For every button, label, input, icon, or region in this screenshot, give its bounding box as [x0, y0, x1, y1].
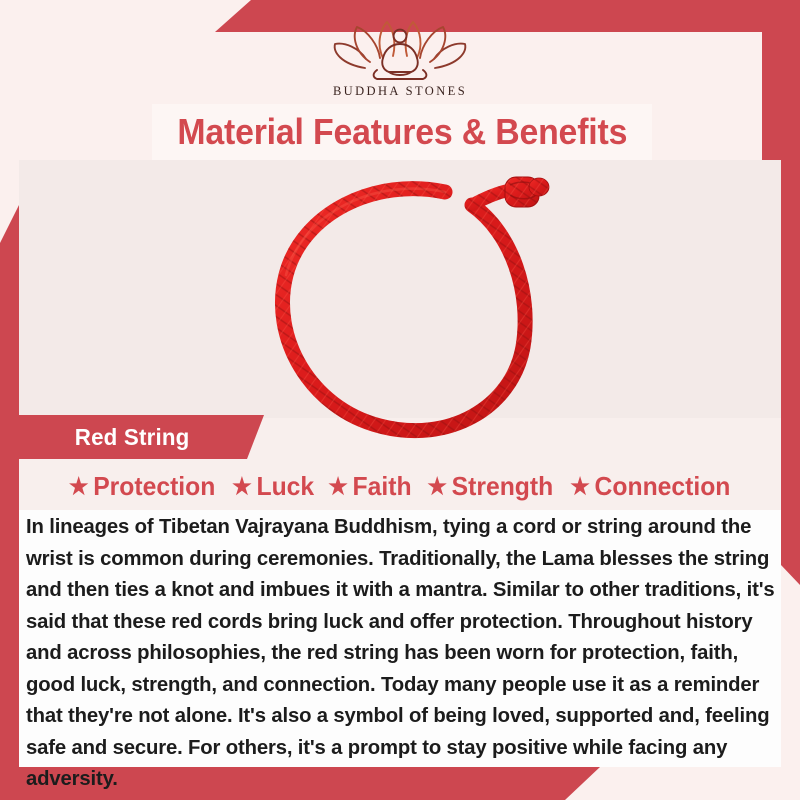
red-string-bracelet-photo [240, 165, 580, 455]
star-icon: ★ [427, 475, 447, 498]
feature-label: Faith [352, 471, 411, 502]
feature-item-connection: ★ Connection [570, 471, 730, 502]
feature-label: Luck [256, 471, 314, 502]
feature-label: Connection [595, 471, 731, 502]
feature-label: Strength [451, 471, 553, 502]
feature-list: ★ Protection ★ Luck ★ Faith ★ Strength ★… [19, 466, 781, 506]
feature-item-strength: ★ Strength [427, 471, 553, 502]
brand-name: BUDDHA STONES [333, 84, 467, 99]
star-icon: ★ [328, 475, 348, 498]
material-label-banner: Red String [19, 415, 264, 459]
star-icon: ★ [232, 475, 252, 498]
infographic-poster: BUDDHA STONES Material Features & Benefi… [0, 0, 800, 800]
title-banner: Material Features & Benefits [152, 104, 652, 160]
star-icon: ★ [69, 475, 89, 498]
description-text: In lineages of Tibetan Vajrayana Buddhis… [26, 512, 778, 796]
bracelet-loop [282, 189, 525, 431]
feature-item-protection: ★ Protection [69, 471, 215, 502]
feature-item-faith: ★ Faith [328, 471, 411, 502]
feature-label: Protection [93, 471, 215, 502]
lotus-meditation-icon [325, 14, 475, 82]
material-label: Red String [75, 424, 190, 451]
brand-logo: BUDDHA STONES [0, 14, 800, 99]
page-title: Material Features & Benefits [177, 111, 627, 153]
decorative-band-left [0, 205, 19, 800]
feature-item-luck: ★ Luck [232, 471, 314, 502]
star-icon: ★ [570, 475, 590, 498]
adjustable-sliding-knot [505, 177, 549, 207]
